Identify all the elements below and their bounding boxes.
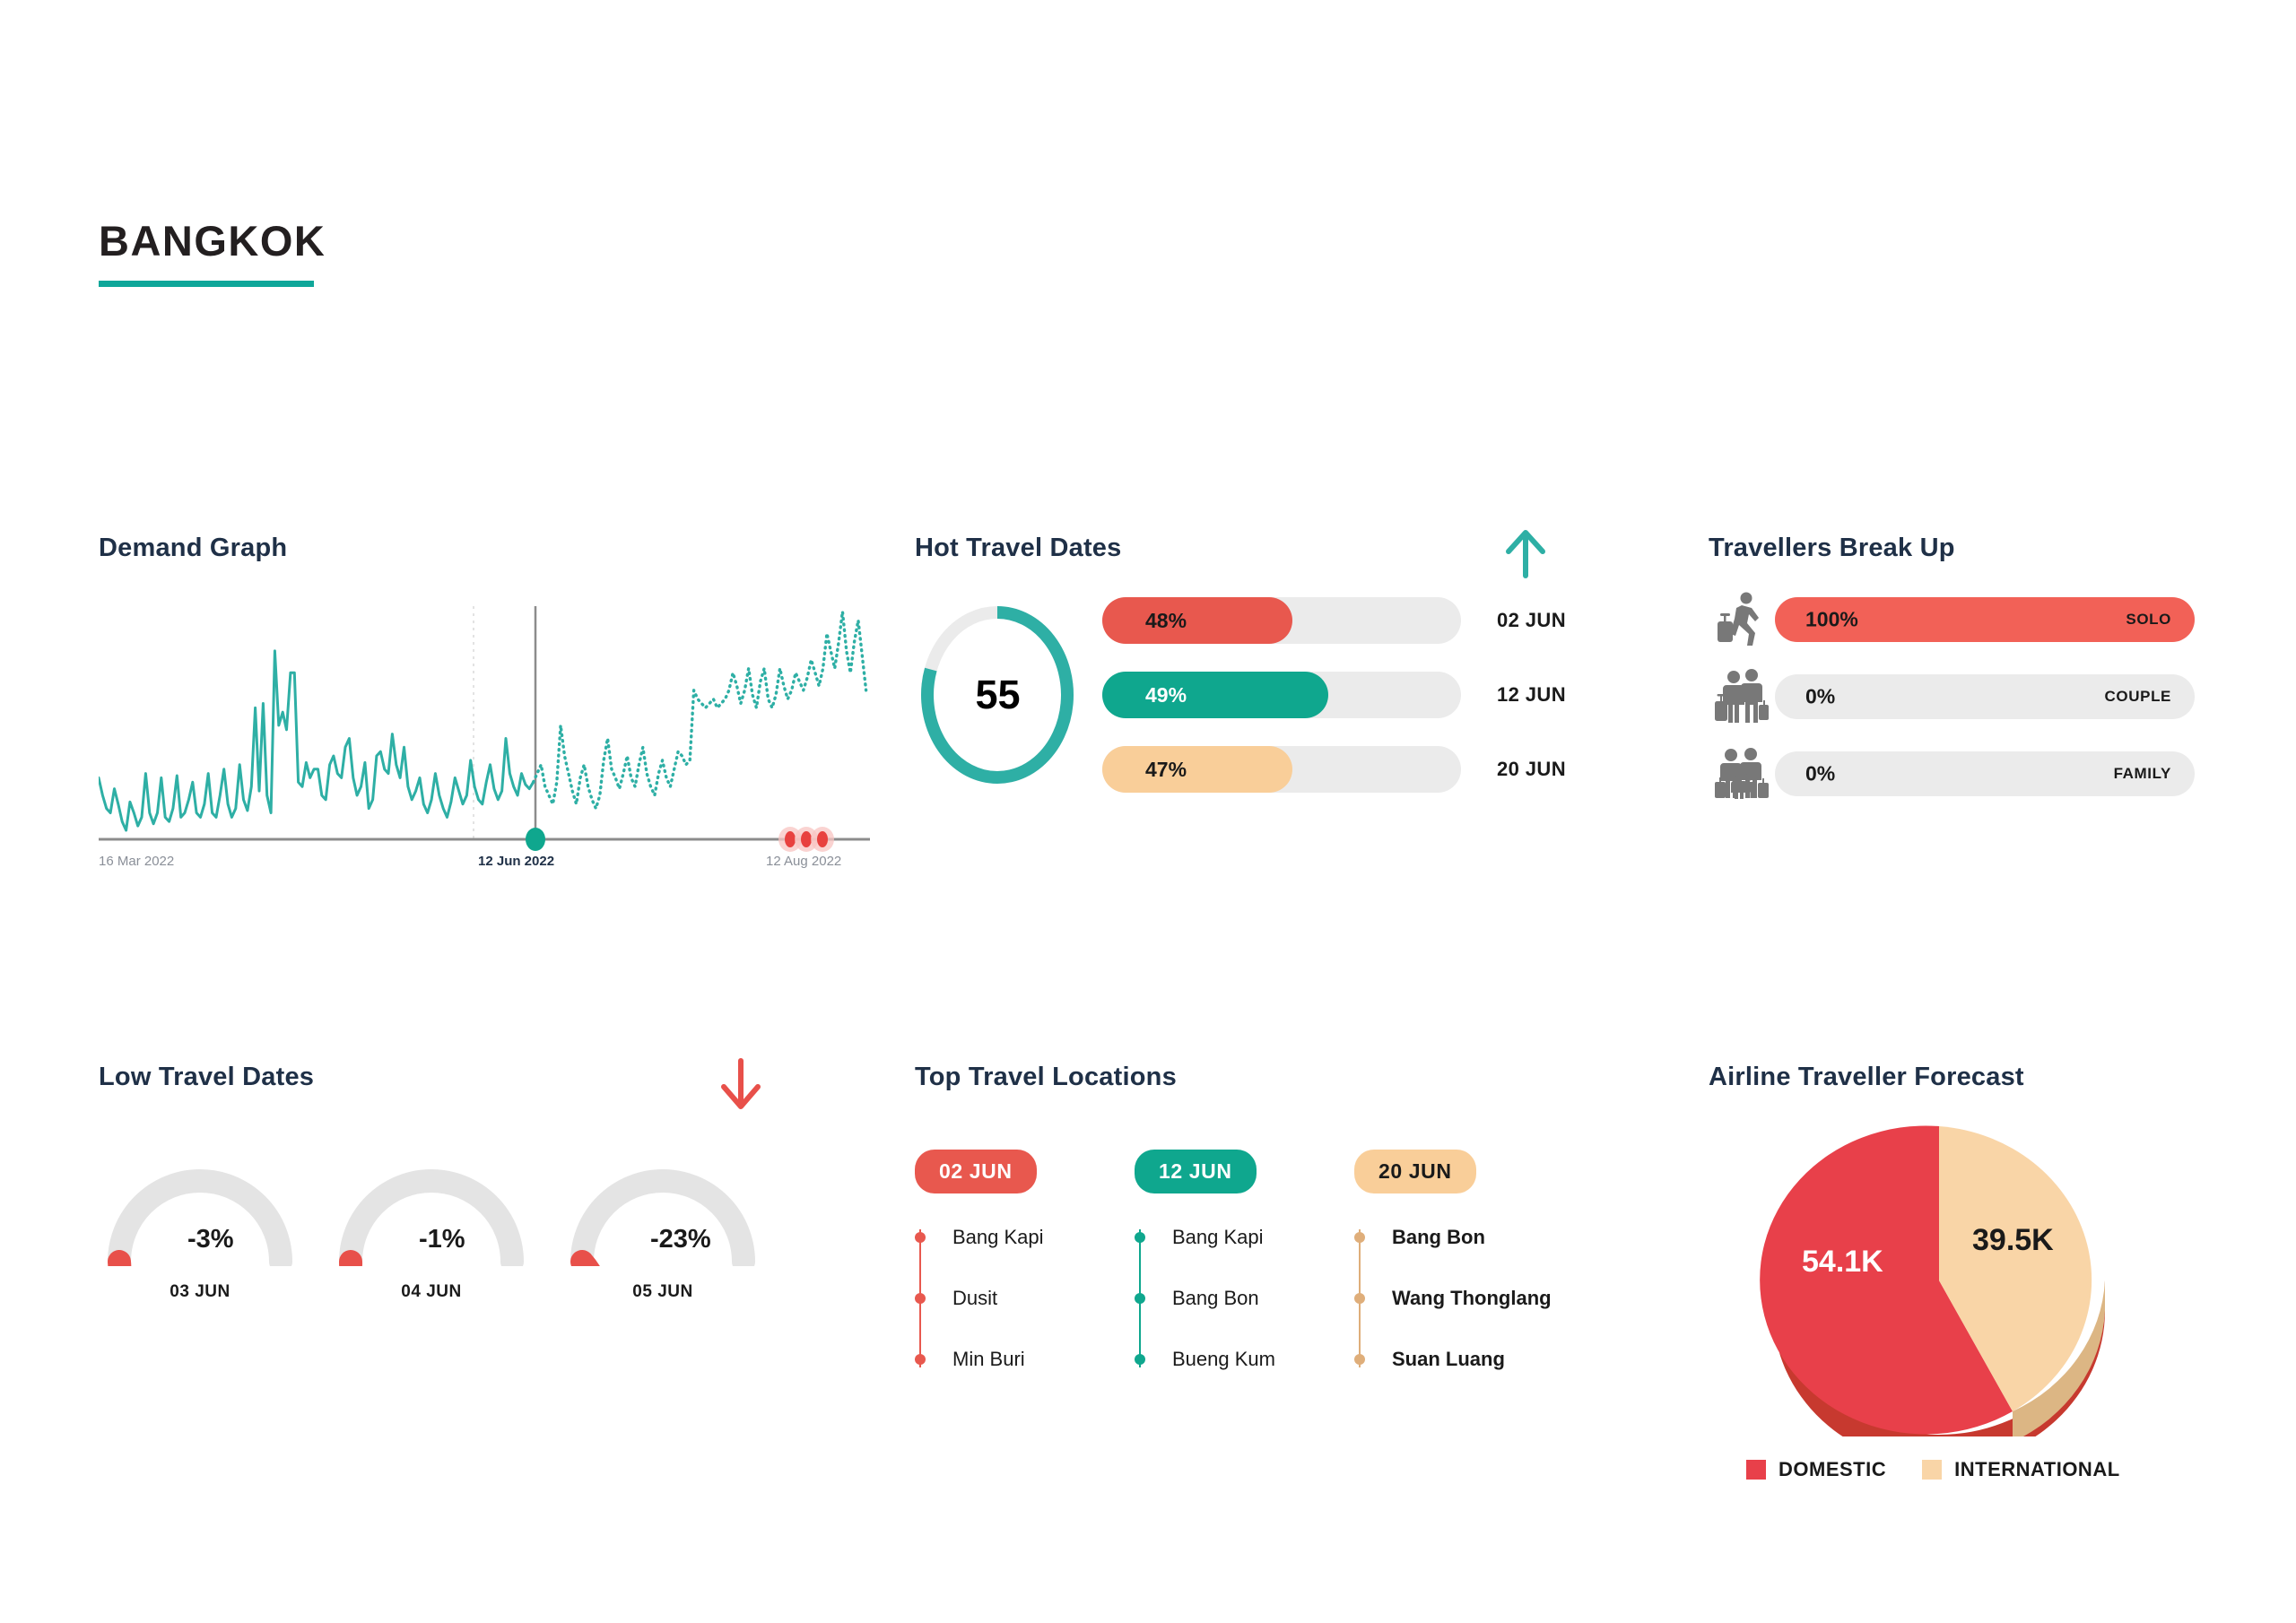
- travellers-bar-category: SOLO: [2126, 611, 2171, 629]
- legend-entry-international[interactable]: INTERNATIONAL: [1922, 1458, 2120, 1481]
- location-name: Min Buri: [952, 1348, 1025, 1371]
- location-name: Bueng Kum: [1172, 1348, 1275, 1371]
- hot-travel-bar-track: 47%: [1102, 746, 1461, 793]
- current-date-marker-dot[interactable]: [526, 828, 545, 851]
- hot-travel-bar-percent: 47%: [1145, 758, 1187, 782]
- demand-graph-title: Demand Graph: [99, 534, 879, 563]
- hot-travel-bar-fill: 49%: [1102, 672, 1328, 718]
- low-travel-dates-panel: Low Travel Dates -3% 03 JUN: [99, 1063, 879, 1302]
- hot-travel-score-value: 55: [915, 672, 1081, 718]
- arrow-down-icon: [717, 1057, 764, 1117]
- list-item[interactable]: Bang Kapi: [915, 1220, 1135, 1254]
- airline-pie-legend: DOMESTIC INTERNATIONAL: [1746, 1458, 2229, 1481]
- location-dot: [915, 1354, 926, 1365]
- location-name: Bang Kapi: [952, 1226, 1044, 1249]
- location-dot: [1354, 1293, 1365, 1304]
- legend-label-international: INTERNATIONAL: [1954, 1458, 2120, 1481]
- list-item[interactable]: Wang Thonglang: [1354, 1281, 1574, 1315]
- hot-travel-bar-percent: 48%: [1145, 609, 1187, 633]
- hot-travel-bar-fill: 47%: [1102, 746, 1292, 793]
- travellers-break-up-title: Travellers Break Up: [1709, 534, 2229, 563]
- location-name: Wang Thonglang: [1392, 1287, 1552, 1310]
- low-travel-gauge-date: 05 JUN: [561, 1282, 764, 1302]
- low-date-marker-dots[interactable]: [778, 827, 834, 852]
- low-travel-gauge-percent: -1%: [419, 1225, 465, 1254]
- hot-travel-dates-panel: Hot Travel Dates 55 48% 02 JUN: [915, 534, 1614, 793]
- travellers-bar-percent: 100%: [1805, 608, 1858, 632]
- location-date-pill[interactable]: 02 JUN: [915, 1150, 1037, 1193]
- list-item[interactable]: Bueng Kum: [1135, 1342, 1354, 1376]
- demand-graph-panel: Demand Graph 16 Mar 2022: [99, 534, 879, 886]
- travellers-row[interactable]: 0% FAMILY: [1709, 751, 2229, 796]
- hot-travel-row[interactable]: 48% 02 JUN: [1102, 597, 1566, 644]
- demand-graph-chart[interactable]: 16 Mar 2022 12 Jun 2022 12 Aug 2022: [99, 599, 870, 886]
- legend-swatch-international: [1922, 1460, 1942, 1480]
- location-dot: [1135, 1293, 1145, 1304]
- location-name: Bang Kapi: [1172, 1226, 1264, 1249]
- hot-travel-bar-date: 12 JUN: [1497, 683, 1566, 707]
- low-travel-gauge-date: 04 JUN: [330, 1282, 533, 1302]
- location-dot: [1135, 1232, 1145, 1243]
- top-travel-locations-panel: Top Travel Locations 02 JUN Bang Kapi Du…: [915, 1063, 1632, 1376]
- airline-traveller-forecast-title: Airline Traveller Forecast: [1709, 1063, 2229, 1092]
- travellers-bar-category: FAMILY: [2114, 765, 2171, 783]
- demand-graph-svg: [99, 599, 870, 886]
- low-travel-gauge[interactable]: -3% 03 JUN: [99, 1160, 330, 1302]
- family-travellers-icon: [1709, 746, 1775, 802]
- hot-travel-bar-track: 49%: [1102, 672, 1461, 718]
- demand-axis-label-end: 12 Aug 2022: [766, 854, 841, 869]
- location-date-pill[interactable]: 20 JUN: [1354, 1150, 1476, 1193]
- location-dot: [915, 1293, 926, 1304]
- demand-historical-line: [99, 651, 534, 830]
- location-list: Bang Bon Wang Thonglang Suan Luang: [1354, 1220, 1574, 1376]
- arrow-up-icon: [1502, 526, 1549, 583]
- top-travel-locations-title: Top Travel Locations: [915, 1063, 1632, 1092]
- list-item[interactable]: Suan Luang: [1354, 1342, 1574, 1376]
- demand-axis-label-current: 12 Jun 2022: [478, 854, 554, 869]
- top-travel-locations-column: 12 JUN Bang Kapi Bang Bon Bueng Kum: [1135, 1150, 1354, 1376]
- location-list: Bang Kapi Dusit Min Buri: [915, 1220, 1135, 1376]
- location-dot: [1354, 1354, 1365, 1365]
- list-item[interactable]: Min Buri: [915, 1342, 1135, 1376]
- travellers-row[interactable]: 0% COUPLE: [1709, 674, 2229, 719]
- low-travel-gauge[interactable]: -23% 05 JUN: [561, 1160, 793, 1302]
- list-item[interactable]: Dusit: [915, 1281, 1135, 1315]
- travellers-bar-percent: 0%: [1805, 762, 1835, 786]
- page-title: BANGKOK: [99, 220, 326, 262]
- travellers-bar-track: 100% SOLO: [1775, 597, 2195, 642]
- location-name: Bang Bon: [1172, 1287, 1259, 1310]
- location-dot: [1354, 1232, 1365, 1243]
- legend-entry-domestic[interactable]: DOMESTIC: [1746, 1458, 1886, 1481]
- travellers-break-up-panel: Travellers Break Up 100% SOLO: [1709, 534, 2229, 796]
- demand-forecast-line: [534, 612, 866, 809]
- low-travel-gauge[interactable]: -1% 04 JUN: [330, 1160, 561, 1302]
- list-item[interactable]: Bang Bon: [1135, 1281, 1354, 1315]
- title-underline: [99, 281, 314, 287]
- travellers-bar-track: 0% FAMILY: [1775, 751, 2195, 796]
- airline-traveller-forecast-panel: Airline Traveller Forecast 54.1K 39.5K D…: [1709, 1063, 2229, 1481]
- legend-label-domestic: DOMESTIC: [1779, 1458, 1886, 1481]
- location-date-pill[interactable]: 12 JUN: [1135, 1150, 1257, 1193]
- hot-travel-bar-percent: 49%: [1145, 683, 1187, 707]
- couple-travellers-icon: [1709, 669, 1775, 725]
- top-travel-locations-column: 20 JUN Bang Bon Wang Thonglang Suan Luan…: [1354, 1150, 1574, 1376]
- location-name: Bang Bon: [1392, 1226, 1485, 1249]
- solo-traveller-icon: [1709, 592, 1775, 647]
- demand-axis-label-start: 16 Mar 2022: [99, 854, 174, 869]
- page-header: BANGKOK: [99, 220, 326, 287]
- hot-travel-row[interactable]: 49% 12 JUN: [1102, 672, 1566, 718]
- travellers-bar-track: 0% COUPLE: [1775, 674, 2195, 719]
- hot-travel-row[interactable]: 47% 20 JUN: [1102, 746, 1566, 793]
- hot-travel-bars-list: 48% 02 JUN 49% 12 JUN 47%: [1102, 597, 1566, 793]
- top-travel-locations-column: 02 JUN Bang Kapi Dusit Min Buri: [915, 1150, 1135, 1376]
- list-item[interactable]: Bang Kapi: [1135, 1220, 1354, 1254]
- low-travel-gauge-percent: -23%: [650, 1225, 711, 1254]
- travellers-row[interactable]: 100% SOLO: [1709, 597, 2229, 642]
- hot-travel-score-gauge: 55: [915, 599, 1081, 792]
- travellers-bar-category: COUPLE: [2105, 688, 2171, 706]
- location-list: Bang Kapi Bang Bon Bueng Kum: [1135, 1220, 1354, 1376]
- hot-travel-bar-date: 20 JUN: [1497, 758, 1566, 781]
- low-travel-gauge-date: 03 JUN: [99, 1282, 301, 1302]
- location-name: Dusit: [952, 1287, 997, 1310]
- legend-swatch-domestic: [1746, 1460, 1766, 1480]
- location-name: Suan Luang: [1392, 1348, 1505, 1371]
- pie-label-domestic: 54.1K: [1802, 1245, 1883, 1280]
- location-dot: [915, 1232, 926, 1243]
- airline-forecast-pie-chart[interactable]: 54.1K 39.5K: [1746, 1114, 2132, 1436]
- hot-travel-bar-track: 48%: [1102, 597, 1461, 644]
- list-item[interactable]: Bang Bon: [1354, 1220, 1574, 1254]
- hot-travel-bar-fill: 48%: [1102, 597, 1292, 644]
- location-dot: [1135, 1354, 1145, 1365]
- pie-label-international: 39.5K: [1972, 1223, 2054, 1258]
- hot-travel-bar-date: 02 JUN: [1497, 609, 1566, 632]
- low-travel-gauge-percent: -3%: [187, 1225, 234, 1254]
- travellers-bar-percent: 0%: [1805, 685, 1835, 709]
